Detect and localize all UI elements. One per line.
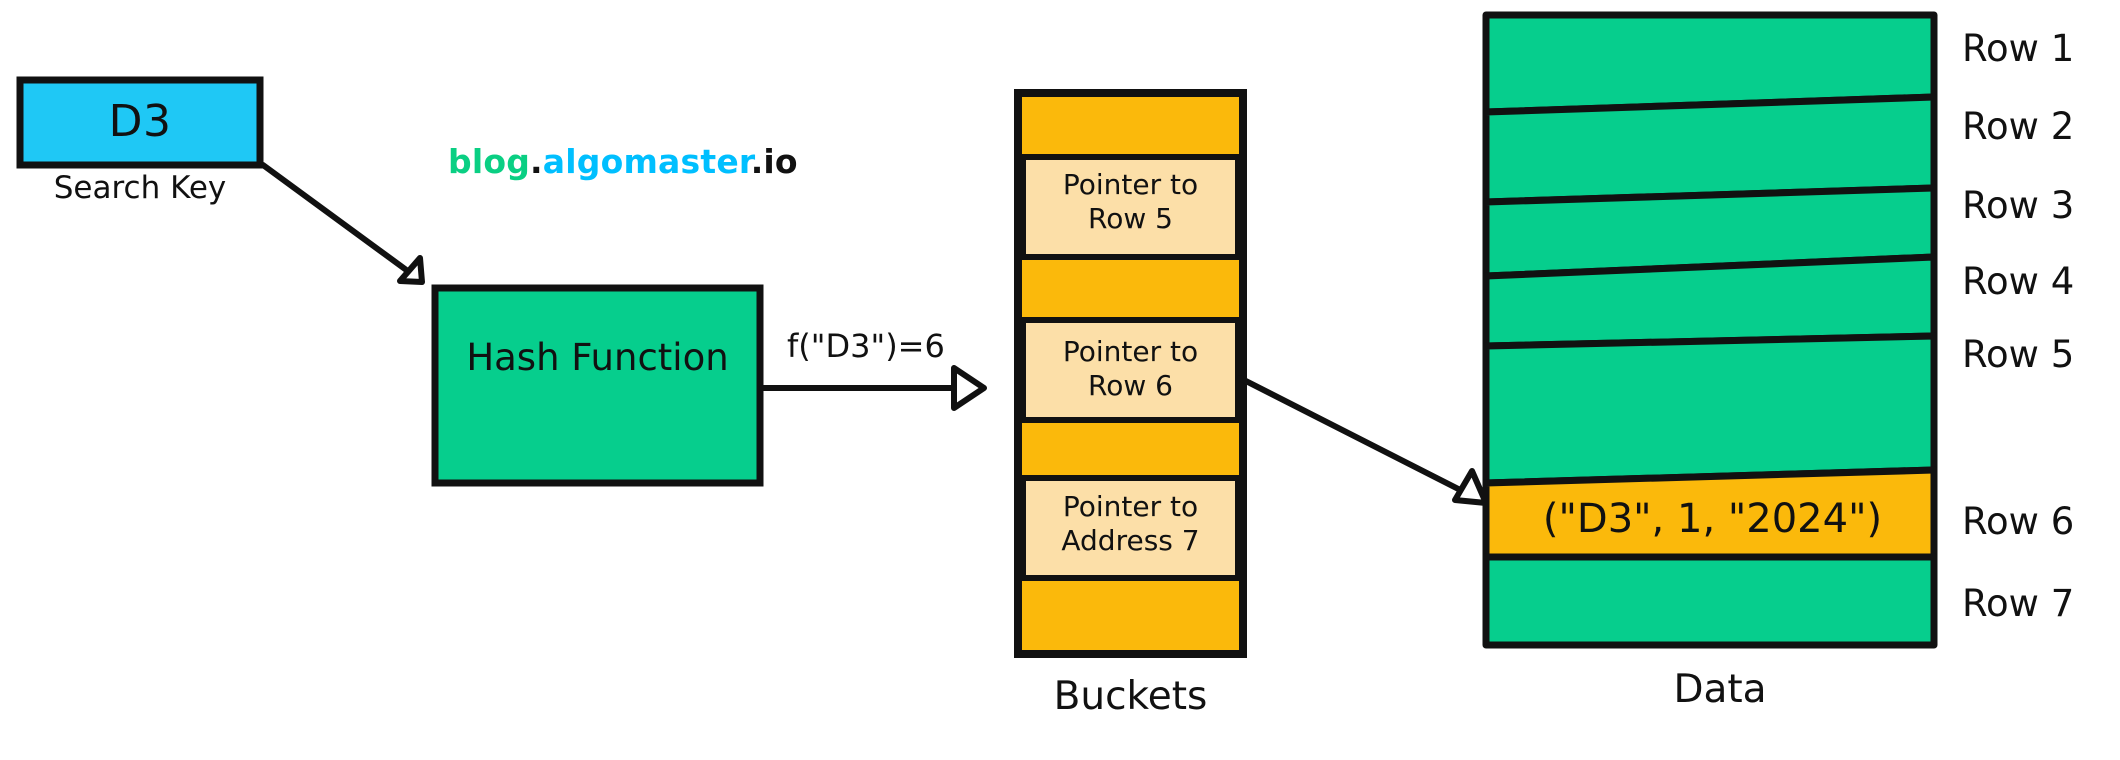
bucket-cell-1-label: Pointer to Row 6 [1023, 335, 1238, 403]
search-key-caption: Search Key [20, 172, 260, 205]
arrow-bucket-to-row6-head [1455, 471, 1486, 503]
watermark-part-blog: blog [448, 142, 530, 181]
data-row-5 [1486, 336, 1934, 483]
watermark: blog.algomaster.io [448, 145, 798, 180]
bucket-cell-2-label: Pointer to Address 7 [1023, 490, 1238, 558]
bucket-cell-2-line1: Pointer to [1023, 490, 1238, 524]
search-key-value: D3 [20, 80, 260, 165]
buckets-caption: Buckets [1018, 677, 1243, 718]
bucket-cell-1-line2: Row 6 [1023, 369, 1238, 403]
bucket-cell-0-line1: Pointer to [1023, 168, 1238, 202]
watermark-part-tld: .io [751, 142, 798, 181]
data-row-2 [1486, 97, 1934, 202]
arrow-bucket-to-row6-line [1240, 378, 1480, 500]
arrow-searchkey-to-hash-line [263, 165, 420, 280]
bucket-cell-0-line2: Row 5 [1023, 202, 1238, 236]
watermark-part-algomaster: algomaster [543, 142, 751, 181]
bucket-cell-0-label: Pointer to Row 5 [1023, 168, 1238, 236]
row-label-3: Row 3 [1962, 184, 2074, 227]
diagram-canvas: D3 Search Key blog.algomaster.io Hash Fu… [0, 0, 2120, 760]
bucket-cell-2-line2: Address 7 [1023, 524, 1238, 558]
row-label-5: Row 5 [1962, 333, 2074, 376]
data-row-4 [1486, 257, 1934, 346]
row-label-1: Row 1 [1962, 27, 2074, 70]
arrow-hash-to-buckets-head [954, 368, 984, 408]
row-label-6: Row 6 [1962, 500, 2074, 543]
data-caption: Data [1600, 670, 1840, 711]
watermark-dot: . [530, 142, 543, 181]
row-label-7: Row 7 [1962, 582, 2074, 625]
row-label-4: Row 4 [1962, 260, 2074, 303]
bucket-cell-1-line1: Pointer to [1023, 335, 1238, 369]
hash-function-label: Hash Function [435, 288, 760, 428]
row-label-2: Row 2 [1962, 105, 2074, 148]
data-row-6-value: ("D3", 1, "2024") [1495, 483, 1930, 555]
data-row-7 [1486, 557, 1934, 645]
hash-edge-label: f("D3")=6 [787, 330, 945, 364]
